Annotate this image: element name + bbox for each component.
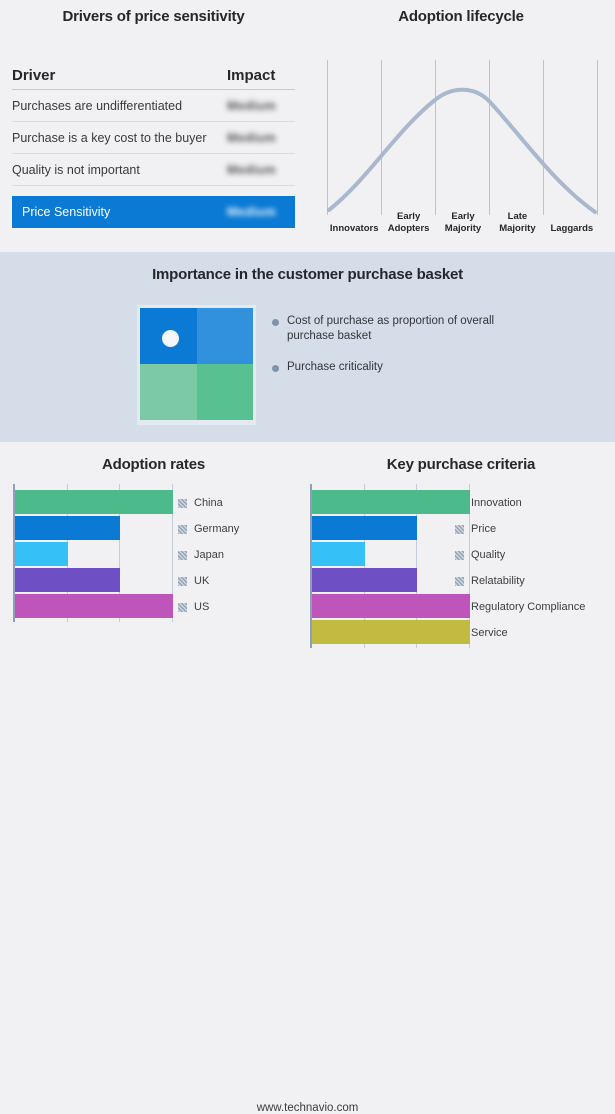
hatched-swatch-icon <box>178 499 187 508</box>
legend-item: China <box>178 490 239 516</box>
quadrant-matrix <box>140 308 253 420</box>
purchase-basket-section: Importance in the customer purchase bask… <box>0 252 615 442</box>
column-header-impact: Impact <box>227 67 287 84</box>
column-header-driver: Driver <box>12 67 55 84</box>
adoption-rates-title: Adoption rates <box>0 456 307 473</box>
bar-japan[interactable] <box>15 542 68 566</box>
legend-label: China <box>194 497 223 509</box>
legend-item: Service <box>455 620 585 646</box>
lifecycle-segment-labels: Innovators Early Adopters Early Majority… <box>327 196 599 236</box>
legend-item: UK <box>178 568 239 594</box>
legend-item: Price <box>455 516 585 542</box>
table-row[interactable]: Purchases are undifferentiated Medium <box>12 90 295 122</box>
legend-label: US <box>194 601 209 613</box>
hatched-swatch-icon <box>178 525 187 534</box>
bar-us[interactable] <box>15 594 173 618</box>
matrix-container <box>137 305 256 425</box>
legend-label: UK <box>194 575 209 587</box>
hatched-swatch-icon <box>178 577 187 586</box>
quadrant-bottom-left[interactable] <box>140 364 197 420</box>
driver-name: Purchase is a key cost to the buyer <box>12 131 207 145</box>
purchase-criteria-title: Key purchase criteria <box>307 456 615 473</box>
legend-item: Cost of purchase as proportion of overal… <box>272 314 592 343</box>
bar-price[interactable] <box>312 516 417 540</box>
legend-item: Japan <box>178 542 239 568</box>
quadrant-bottom-right[interactable] <box>197 364 254 420</box>
adoption-rates-chart <box>13 484 173 622</box>
legend-label: Purchase criticality <box>287 360 383 375</box>
segment-label-innovators: Innovators <box>327 196 381 236</box>
position-marker-dot <box>162 330 179 347</box>
basket-legend: Cost of purchase as proportion of overal… <box>272 314 592 392</box>
driver-name: Price Sensitivity <box>22 205 110 219</box>
drivers-panel: Drivers of price sensitivity Driver Impa… <box>0 0 307 252</box>
lifecycle-title: Adoption lifecycle <box>307 8 615 25</box>
footer-url[interactable]: www.technavio.com <box>0 1102 615 1114</box>
legend-label: Price <box>471 523 496 535</box>
driver-name: Quality is not important <box>12 163 140 177</box>
drivers-title: Drivers of price sensitivity <box>0 8 307 25</box>
segment-label-early-adopters: Early Adopters <box>381 196 435 236</box>
table-header-row: Driver Impact <box>12 62 295 90</box>
legend-item: Relatability <box>455 568 585 594</box>
table-row[interactable]: Quality is not important Medium <box>12 154 295 186</box>
bar-relatability[interactable] <box>312 568 417 592</box>
legend-item: Quality <box>455 542 585 568</box>
quadrant-top-right[interactable] <box>197 308 254 364</box>
impact-value: Medium <box>227 99 287 113</box>
legend-item: Innovation <box>455 490 585 516</box>
purchase-criteria-legend: Innovation Price Quality Relatability Re… <box>455 490 585 646</box>
bar-china[interactable] <box>15 490 173 514</box>
legend-item: Germany <box>178 516 239 542</box>
purchase-criteria-chart <box>310 484 470 648</box>
legend-label: Germany <box>194 523 239 535</box>
driver-name: Purchases are undifferentiated <box>12 99 182 113</box>
bell-curve <box>327 60 599 215</box>
segment-label-laggards: Laggards <box>545 196 599 236</box>
legend-label: Regulatory Compliance <box>471 601 585 613</box>
legend-label: Relatability <box>471 575 525 587</box>
legend-label: Japan <box>194 549 224 561</box>
bar-germany[interactable] <box>15 516 120 540</box>
table-row[interactable]: Purchase is a key cost to the buyer Medi… <box>12 122 295 154</box>
lifecycle-chart <box>327 60 599 215</box>
impact-value: Medium <box>227 205 287 219</box>
legend-label: Innovation <box>471 497 522 509</box>
bottom-section: Adoption rates China Germany Jap <box>0 442 615 680</box>
bar-innovation[interactable] <box>312 490 470 514</box>
legend-label: Cost of purchase as proportion of overal… <box>287 314 497 343</box>
bar-quality[interactable] <box>312 542 365 566</box>
top-section: Drivers of price sensitivity Driver Impa… <box>0 0 615 252</box>
lifecycle-panel: Adoption lifecycle Innovators Early Adop… <box>307 0 615 252</box>
segment-label-late-majority: Late Majority <box>490 196 544 236</box>
impact-value: Medium <box>227 131 287 145</box>
bar-uk[interactable] <box>15 568 120 592</box>
table-row-highlighted[interactable]: Price Sensitivity Medium <box>12 196 295 228</box>
adoption-rates-legend: China Germany Japan UK US <box>178 490 239 620</box>
bar-service[interactable] <box>312 620 470 644</box>
purchase-basket-title: Importance in the customer purchase bask… <box>0 266 615 283</box>
bullet-icon <box>272 319 279 326</box>
legend-label: Service <box>471 627 508 639</box>
drivers-table: Driver Impact Purchases are undifferenti… <box>12 62 295 228</box>
impact-value: Medium <box>227 163 287 177</box>
legend-item: Regulatory Compliance <box>455 594 585 620</box>
segment-label-early-majority: Early Majority <box>436 196 490 236</box>
legend-item: Purchase criticality <box>272 360 592 375</box>
hatched-swatch-icon <box>178 551 187 560</box>
bar-regulatory-compliance[interactable] <box>312 594 470 618</box>
bullet-icon <box>272 365 279 372</box>
legend-item: US <box>178 594 239 620</box>
legend-label: Quality <box>471 549 505 561</box>
hatched-swatch-icon <box>178 603 187 612</box>
